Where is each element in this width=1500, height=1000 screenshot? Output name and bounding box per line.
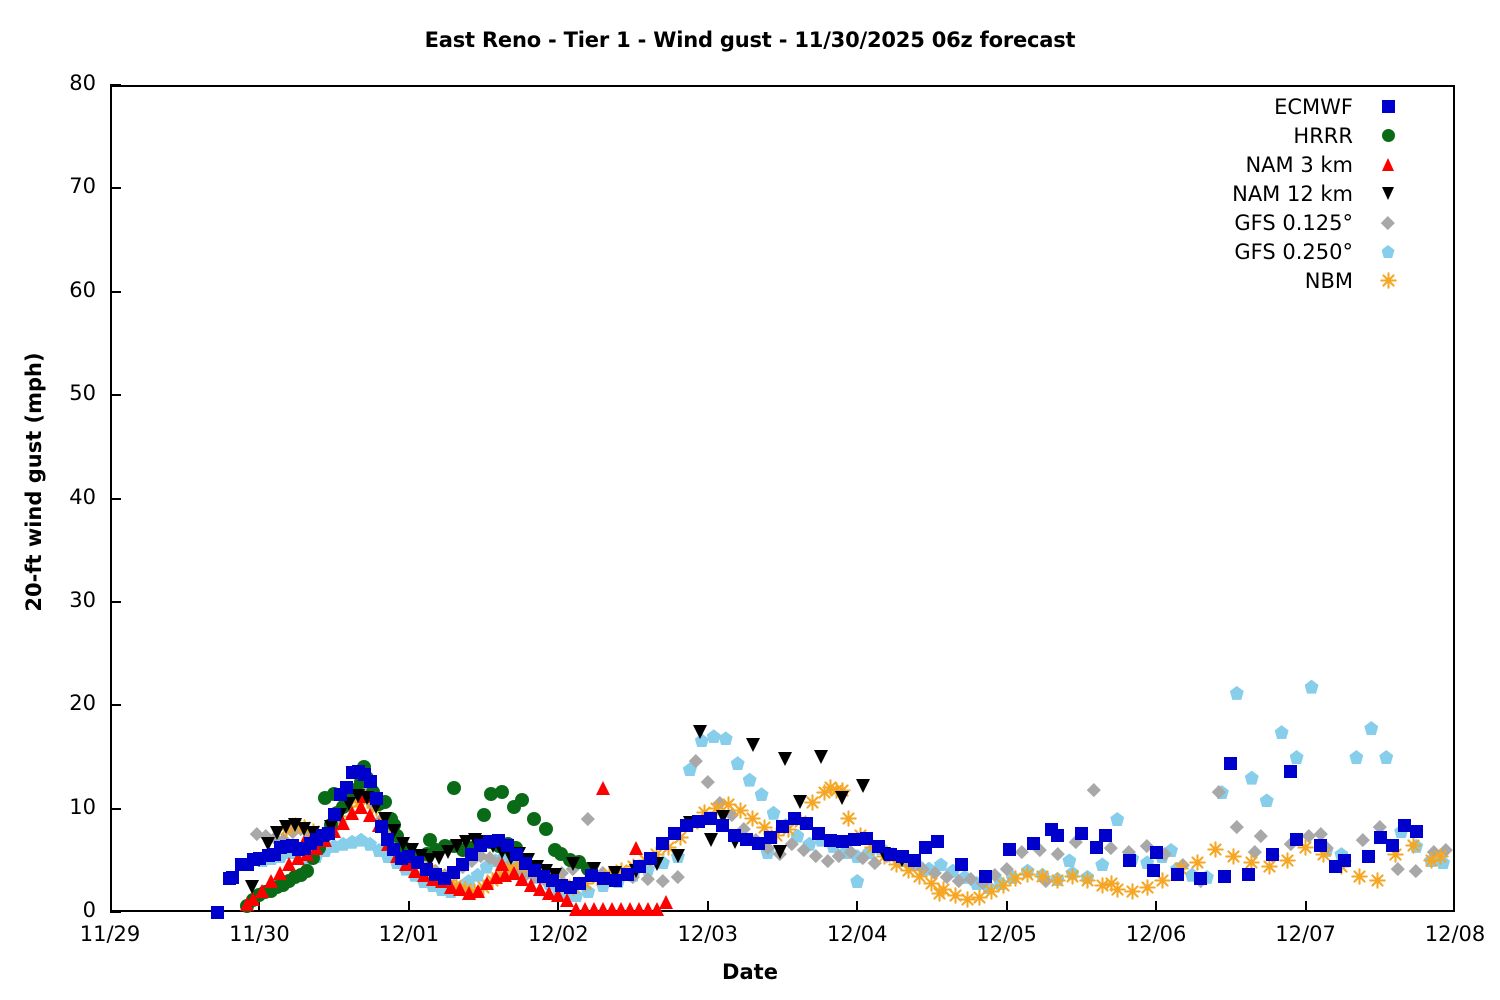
x-tick-label: 12/04	[787, 922, 927, 946]
x-tick-label: 11/29	[40, 922, 180, 946]
y-tick-label: 80	[26, 71, 96, 95]
legend-item-hrrr[interactable]: HRRR	[1180, 121, 1405, 150]
legend-label: GFS 0.250°	[1234, 240, 1371, 264]
x-tick-label: 12/08	[1385, 922, 1500, 946]
x-tick-label: 12/03	[638, 922, 778, 946]
x-tick-label: 12/02	[488, 922, 628, 946]
legend-marker-diamond-icon	[1371, 212, 1405, 234]
legend-marker-pentagon-icon	[1371, 241, 1405, 263]
x-axis-label: Date	[0, 960, 1500, 984]
legend-label: NAM 12 km	[1232, 182, 1371, 206]
legend: ECMWFHRRRNAM 3 kmNAM 12 kmGFS 0.125°GFS …	[1180, 92, 1405, 295]
y-tick-label: 0	[26, 898, 96, 922]
x-tick-label: 12/05	[937, 922, 1077, 946]
legend-label: NAM 3 km	[1245, 153, 1371, 177]
legend-marker-triangle-up-icon	[1371, 154, 1405, 176]
x-tick-label: 12/06	[1086, 922, 1226, 946]
legend-marker-triangle-down-icon	[1371, 183, 1405, 205]
wind-gust-forecast-chart: East Reno - Tier 1 - Wind gust - 11/30/2…	[0, 0, 1500, 1000]
legend-label: NBM	[1305, 269, 1371, 293]
page-title: East Reno - Tier 1 - Wind gust - 11/30/2…	[0, 28, 1500, 52]
y-axis-label: 20-ft wind gust (mph)	[22, 132, 46, 832]
legend-item-nam-3-km[interactable]: NAM 3 km	[1180, 150, 1405, 179]
legend-item-nbm[interactable]: NBM	[1180, 266, 1405, 295]
legend-item-gfs-0-125[interactable]: GFS 0.125°	[1180, 208, 1405, 237]
legend-label: GFS 0.125°	[1234, 211, 1371, 235]
legend-item-gfs-0-250[interactable]: GFS 0.250°	[1180, 237, 1405, 266]
legend-marker-circle-icon	[1371, 125, 1405, 147]
x-tick-label: 12/07	[1236, 922, 1376, 946]
legend-label: ECMWF	[1274, 95, 1371, 119]
x-tick-label: 11/30	[189, 922, 329, 946]
legend-item-nam-12-km[interactable]: NAM 12 km	[1180, 179, 1405, 208]
legend-label: HRRR	[1293, 124, 1371, 148]
x-tick-label: 12/01	[339, 922, 479, 946]
legend-item-ecmwf[interactable]: ECMWF	[1180, 92, 1405, 121]
legend-marker-square-icon	[1371, 96, 1405, 118]
legend-marker-star-icon	[1371, 270, 1405, 292]
